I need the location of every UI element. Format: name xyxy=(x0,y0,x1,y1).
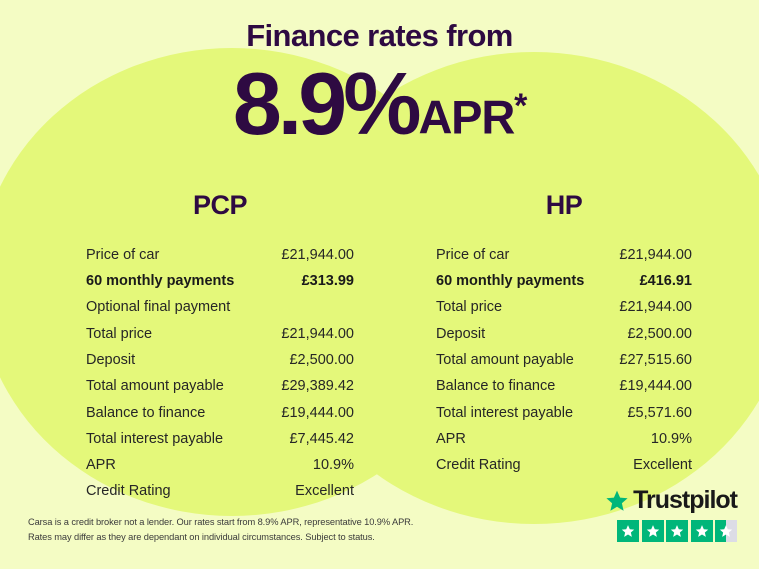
row-label: Total price xyxy=(86,327,152,342)
finance-table-hp: Price of car£21,944.0060 monthly payment… xyxy=(436,242,692,479)
trustpilot-label: Trustpilot xyxy=(633,488,737,513)
table-row: Total interest payable£5,571.60 xyxy=(436,400,692,426)
table-row: Balance to finance£19,444.00 xyxy=(86,400,354,426)
table-row: Credit RatingExcellent xyxy=(436,452,692,478)
row-value: £19,444.00 xyxy=(619,379,692,394)
finance-panel-hp: HP Price of car£21,944.0060 monthly paym… xyxy=(379,190,758,505)
row-label: APR xyxy=(436,432,466,447)
trustpilot-star-5 xyxy=(715,520,737,542)
row-value: £21,944.00 xyxy=(281,327,354,342)
trustpilot-star-3 xyxy=(666,520,688,542)
table-row: Price of car£21,944.00 xyxy=(86,242,354,268)
rate-suffix-text: APR xyxy=(418,91,514,144)
table-row: Deposit£2,500.00 xyxy=(86,347,354,373)
row-label: Total amount payable xyxy=(86,379,224,394)
table-row: Optional final payment xyxy=(86,295,354,321)
row-label: 60 monthly payments xyxy=(86,274,234,289)
row-label: Balance to finance xyxy=(436,379,555,394)
row-value: £416.91 xyxy=(640,274,692,289)
trustpilot-rating-stars xyxy=(605,520,737,542)
page-title: Finance rates from xyxy=(0,18,759,54)
table-row: Total amount payable£27,515.60 xyxy=(436,347,692,373)
row-label: Credit Rating xyxy=(436,458,521,473)
row-value: £21,944.00 xyxy=(281,248,354,263)
table-row: Price of car£21,944.00 xyxy=(436,242,692,268)
trustpilot-badge[interactable]: Trustpilot xyxy=(605,488,737,542)
disclaimer-line-2: Rates may differ as they are dependant o… xyxy=(28,530,448,545)
row-label: Deposit xyxy=(86,353,135,368)
trustpilot-star-icon xyxy=(605,489,629,513)
table-row: Total price£21,944.00 xyxy=(436,295,692,321)
row-label: Price of car xyxy=(436,248,509,263)
row-value: £2,500.00 xyxy=(289,353,354,368)
disclaimer: Carsa is a credit broker not a lender. O… xyxy=(28,515,448,546)
row-value: 10.9% xyxy=(313,458,354,473)
panel-title-pcp: PCP xyxy=(86,190,354,221)
table-row: Total amount payable£29,389.42 xyxy=(86,373,354,399)
row-value: £21,944.00 xyxy=(619,248,692,263)
row-value: £19,444.00 xyxy=(281,406,354,421)
trustpilot-star-4 xyxy=(691,520,713,542)
row-label: Total interest payable xyxy=(86,432,223,447)
row-label: 60 monthly payments xyxy=(436,274,584,289)
row-value: £313.99 xyxy=(302,274,354,289)
row-value: £29,389.42 xyxy=(281,379,354,394)
rate-value: 8.9% xyxy=(233,60,418,148)
finance-panel-pcp: PCP Price of car£21,944.0060 monthly pay… xyxy=(0,190,379,505)
trustpilot-star-1 xyxy=(617,520,639,542)
row-value: Excellent xyxy=(295,484,354,499)
row-label: Optional final payment xyxy=(86,300,230,315)
table-row: Total price£21,944.00 xyxy=(86,321,354,347)
finance-table-pcp: Price of car£21,944.0060 monthly payment… xyxy=(86,242,354,505)
table-row: 60 monthly payments£313.99 xyxy=(86,268,354,294)
asterisk-footnote-marker: * xyxy=(514,87,526,125)
poster-canvas: Finance rates from 8.9% APR* PCP Price o… xyxy=(0,0,759,569)
row-label: Total price xyxy=(436,300,502,315)
row-label: Total interest payable xyxy=(436,406,573,421)
panel-title-hp: HP xyxy=(436,190,692,221)
headline-rate: 8.9% APR* xyxy=(0,60,759,148)
table-row: Deposit£2,500.00 xyxy=(436,321,692,347)
header: Finance rates from 8.9% APR* xyxy=(0,18,759,148)
table-row: Credit RatingExcellent xyxy=(86,479,354,505)
row-label: Credit Rating xyxy=(86,484,171,499)
table-row: 60 monthly payments£416.91 xyxy=(436,268,692,294)
row-label: Deposit xyxy=(436,327,485,342)
row-label: APR xyxy=(86,458,116,473)
row-label: Balance to finance xyxy=(86,406,205,421)
row-label: Total amount payable xyxy=(436,353,574,368)
row-value: Excellent xyxy=(633,458,692,473)
row-value: £27,515.60 xyxy=(619,353,692,368)
table-row: Total interest payable£7,445.42 xyxy=(86,426,354,452)
row-value: £5,571.60 xyxy=(627,406,692,421)
row-value: £2,500.00 xyxy=(627,327,692,342)
table-row: Balance to finance£19,444.00 xyxy=(436,373,692,399)
row-label: Price of car xyxy=(86,248,159,263)
disclaimer-line-1: Carsa is a credit broker not a lender. O… xyxy=(28,515,448,530)
trustpilot-star-2 xyxy=(642,520,664,542)
row-value: £7,445.42 xyxy=(289,432,354,447)
table-row: APR10.9% xyxy=(86,452,354,478)
trustpilot-wordmark: Trustpilot xyxy=(605,488,737,513)
table-row: APR10.9% xyxy=(436,426,692,452)
finance-panels: PCP Price of car£21,944.0060 monthly pay… xyxy=(0,190,759,505)
row-value: 10.9% xyxy=(651,432,692,447)
rate-suffix: APR* xyxy=(418,89,526,141)
row-value: £21,944.00 xyxy=(619,300,692,315)
